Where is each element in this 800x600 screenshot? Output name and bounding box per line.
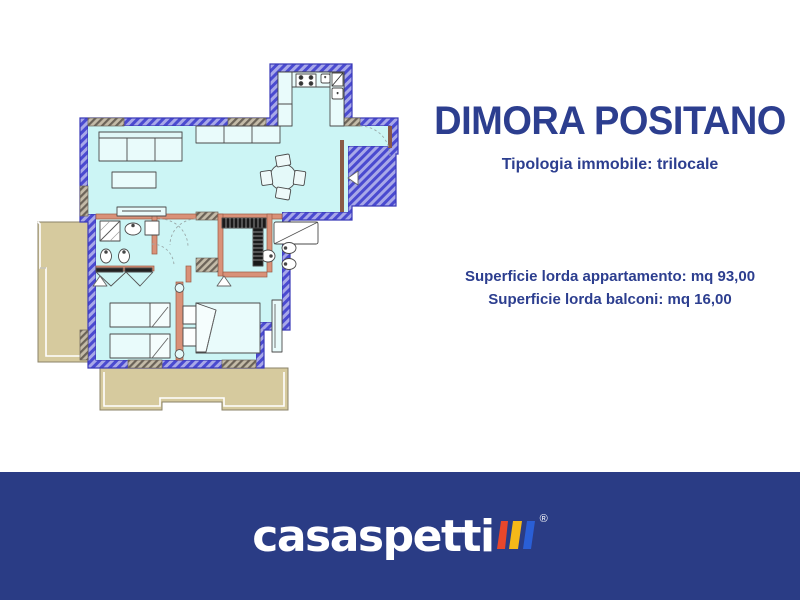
registered-trademark-icon: ® xyxy=(540,513,548,525)
brand-banner: casaspetti ® xyxy=(0,472,800,600)
wc xyxy=(101,249,112,263)
armadio-camera-2 xyxy=(272,300,282,352)
area-balconies: Superficie lorda balconi: mq 16,00 xyxy=(420,288,800,311)
brand-logo-text: casaspetti xyxy=(252,511,493,562)
area-apartment: Superficie lorda appartamento: mq 93,00 xyxy=(420,265,800,288)
brand-logo: casaspetti ® xyxy=(0,508,800,564)
divano xyxy=(99,132,182,161)
credenza xyxy=(117,207,166,216)
cucina xyxy=(278,72,344,126)
floorplan-svg xyxy=(0,0,420,472)
property-info: DIMORA POSITANO Tipologia immobile: tril… xyxy=(420,100,800,360)
doccia xyxy=(100,221,120,241)
armadi-incasso xyxy=(196,258,218,272)
letto-matrimoniale xyxy=(183,303,260,353)
letto-singolo-2 xyxy=(110,334,170,358)
elettrodomestico xyxy=(332,88,343,99)
page-title: DIMORA POSITANO xyxy=(430,100,791,142)
bidet xyxy=(119,249,130,263)
planimetry-page: DIMORA POSITANO Tipologia immobile: tril… xyxy=(0,0,800,600)
mobile-tv xyxy=(112,172,156,188)
piano-cottura xyxy=(296,74,316,87)
property-subtitle: Tipologia immobile: trilocale xyxy=(420,156,800,174)
brand-logo-mark-icon xyxy=(495,511,537,555)
balcone-sud xyxy=(100,368,288,410)
surface-areas: Superficie lorda appartamento: mq 93,00 … xyxy=(420,265,800,312)
floorplan-drawing xyxy=(0,0,420,472)
letto-singolo-1 xyxy=(110,303,170,327)
lavatrice xyxy=(145,221,159,235)
vasca xyxy=(274,222,318,244)
cucina-lineare xyxy=(196,126,280,143)
lavabo xyxy=(125,223,141,235)
